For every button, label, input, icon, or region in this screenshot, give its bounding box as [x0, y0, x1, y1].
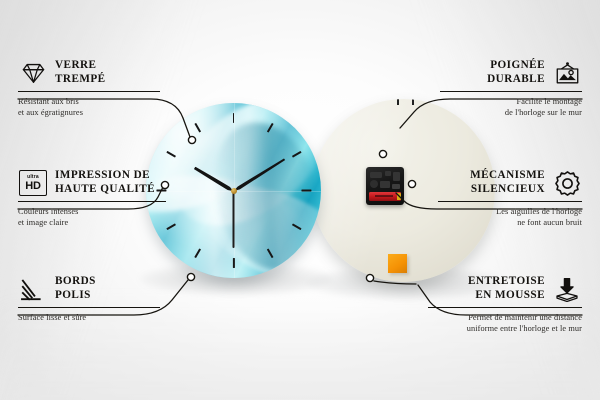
clock-tick — [166, 151, 176, 158]
callout-subtitle-line2: de l'horloge sur le mur — [505, 108, 582, 117]
foam-spacer — [388, 254, 407, 273]
callout-header: MÉCANISME SILENCIEUX — [438, 168, 582, 198]
callout-subtitle: Permet de maintenir une distance uniform… — [428, 312, 582, 334]
callout-divider — [18, 91, 160, 92]
mechanism-detail — [393, 172, 400, 181]
callout-poignee-durable[interactable]: POIGNÉE DURABLE Facilite le montage de l… — [440, 58, 582, 118]
mechanism-detail — [380, 181, 390, 188]
callout-header: VERRE TREMPÉ — [18, 58, 160, 88]
mechanism-detail — [392, 184, 400, 189]
callout-divider — [18, 201, 166, 202]
mechanism-detail — [385, 171, 391, 176]
callout-subtitle-line2: ne font aucun bruit — [517, 218, 582, 227]
callout-header: ENTRETOISE EN MOUSSE — [428, 274, 582, 304]
callout-subtitle: Surface lisse et sûre — [18, 312, 160, 323]
callout-header: BORDS POLIS — [18, 274, 160, 304]
ultra-hd-icon: ultra HD — [18, 168, 48, 198]
mechanism-detail — [370, 180, 378, 188]
gear-icon — [552, 168, 582, 198]
callout-subtitle: Couleurs intenses et image claire — [18, 206, 166, 228]
mechanism-detail — [370, 172, 382, 178]
callout-subtitle-line1: Facilite le montage — [517, 97, 583, 106]
callout-title-line1: ENTRETOISE — [468, 275, 545, 287]
callout-subtitle: Facilite le montage de l'horloge sur le … — [440, 96, 582, 118]
feather-shadow — [197, 109, 321, 278]
callout-title-line1: POIGNÉE — [490, 59, 545, 71]
callout-subtitle-line1: Résistant aux bris — [18, 97, 79, 106]
callout-title-line2: POLIS — [55, 289, 91, 301]
callout-title: BORDS POLIS — [55, 275, 96, 302]
ultra-hd-label-top: ultra — [27, 175, 39, 180]
ultra-hd-label-bottom: HD — [25, 181, 41, 192]
callout-title-line1: IMPRESSION DE — [55, 169, 150, 181]
clock-tick — [233, 258, 235, 268]
battery-tip — [397, 193, 401, 200]
callout-title-line1: BORDS — [55, 275, 96, 287]
battery — [369, 192, 401, 201]
callout-divider — [18, 307, 160, 308]
clock-tick — [194, 123, 201, 133]
polished-edges-icon — [18, 274, 48, 304]
callout-title: IMPRESSION DE HAUTE QUALITÉ — [55, 169, 155, 196]
diamond-icon — [18, 58, 48, 88]
callout-header: ultra HD IMPRESSION DE HAUTE QUALITÉ — [18, 168, 166, 198]
callout-title-line2: DURABLE — [487, 73, 545, 85]
callout-subtitle: Résistant aux bris et aux égratignures — [18, 96, 160, 118]
clock-tick — [301, 190, 311, 192]
callout-divider — [438, 201, 582, 202]
clock-tick — [166, 223, 176, 230]
callout-header: POIGNÉE DURABLE — [440, 58, 582, 88]
callout-bords-polis[interactable]: BORDS POLIS Surface lisse et sûre — [18, 274, 160, 323]
callout-title: VERRE TREMPÉ — [55, 59, 106, 86]
battery-band — [375, 195, 393, 197]
callout-subtitle-line1: Surface lisse et sûre — [18, 313, 86, 322]
callout-divider — [428, 307, 582, 308]
callout-verre-trempe[interactable]: VERRE TREMPÉ Résistant aux bris et aux é… — [18, 58, 160, 118]
callout-divider — [440, 91, 582, 92]
callout-title-line1: VERRE — [55, 59, 96, 71]
wall-hanger-icon — [552, 58, 582, 88]
callout-subtitle-line1: Couleurs intenses — [18, 207, 78, 216]
callout-subtitle-line1: Permet de maintenir une distance — [468, 313, 582, 322]
second-hand — [233, 191, 235, 248]
clock-tick — [194, 248, 201, 258]
callout-title: ENTRETOISE EN MOUSSE — [468, 275, 545, 302]
clock-tick — [233, 113, 235, 123]
callout-subtitle-line1: Les aiguilles de l'horloge — [496, 207, 582, 216]
clock-mechanism — [366, 167, 404, 205]
callout-subtitle-line2: et image claire — [18, 218, 68, 227]
callout-title-line2: HAUTE QUALITÉ — [55, 183, 155, 195]
callout-title: MÉCANISME SILENCIEUX — [470, 169, 545, 196]
callout-impression-haute-qualite[interactable]: ultra HD IMPRESSION DE HAUTE QUALITÉ Cou… — [18, 168, 166, 228]
hanger-tab — [397, 99, 414, 105]
foam-spacer-icon — [552, 274, 582, 304]
callout-title-line1: MÉCANISME — [470, 169, 545, 181]
callout-subtitle-line2: et aux égratignures — [18, 108, 83, 117]
callout-title-line2: TREMPÉ — [55, 73, 106, 85]
leader-dot-bords-polis — [187, 273, 194, 280]
hands-center-cap — [231, 188, 237, 194]
callout-subtitle-line2: uniforme entre l'horloge et le mur — [467, 324, 582, 333]
callout-subtitle: Les aiguilles de l'horloge ne font aucun… — [438, 206, 582, 228]
clock-front-view — [146, 103, 321, 278]
callout-title: POIGNÉE DURABLE — [487, 59, 545, 86]
callout-title-line2: SILENCIEUX — [471, 183, 545, 195]
infographic-canvas: VERRE TREMPÉ Résistant aux bris et aux é… — [0, 0, 600, 400]
callout-title-line2: EN MOUSSE — [475, 289, 545, 301]
callout-entretoise-en-mousse[interactable]: ENTRETOISE EN MOUSSE Permet de maintenir… — [428, 274, 582, 334]
callout-mecanisme-silencieux[interactable]: MÉCANISME SILENCIEUX Les aiguilles de l'… — [438, 168, 582, 228]
